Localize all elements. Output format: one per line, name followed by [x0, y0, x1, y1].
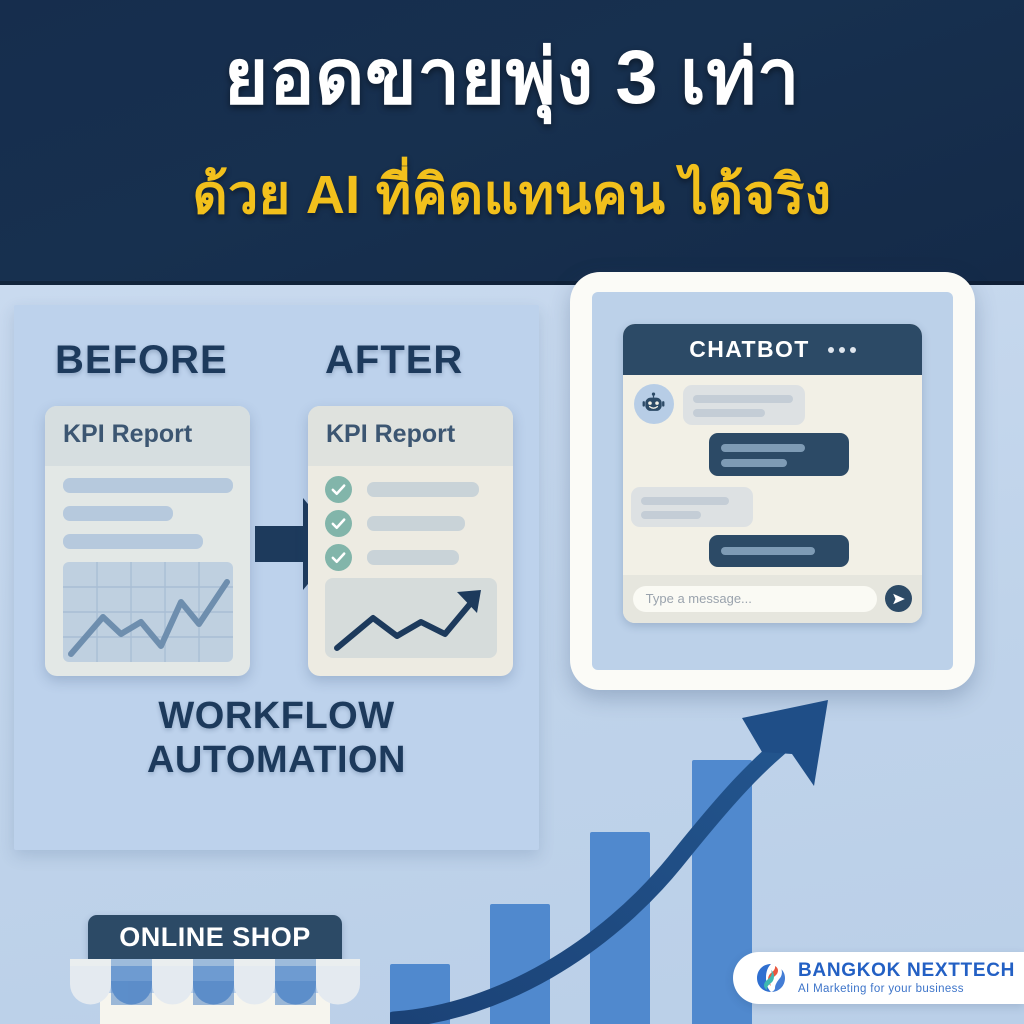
chatbot-window: CHATBOT [623, 324, 923, 623]
page-title: ยอดขายพุ่ง 3 เท่า [0, 30, 1024, 125]
check-glyph [330, 515, 347, 532]
bot-avatar [634, 384, 674, 424]
brand-tagline: AI Marketing for your business [798, 983, 1015, 995]
caption-line-2: AUTOMATION [147, 739, 406, 781]
after-label: AFTER [325, 338, 463, 383]
check-icon [325, 510, 352, 537]
tablet-screen: CHATBOT [592, 292, 953, 670]
robot-icon [641, 391, 666, 416]
placeholder-text-line [367, 550, 459, 565]
tablet-device: CHATBOT [570, 272, 975, 690]
user-message-bubble [709, 433, 849, 476]
send-button[interactable] [885, 585, 912, 612]
shop-sign-label: ONLINE SHOP [119, 922, 311, 953]
growth-line-icon [325, 578, 497, 658]
bot-message-bubble [631, 487, 753, 527]
message-input[interactable]: Type a message... [633, 586, 878, 612]
chat-message-list [623, 375, 923, 575]
brand-mark-icon [755, 962, 787, 994]
placeholder-text-line [63, 534, 203, 549]
page-subtitle: ด้วย AI ที่คิดแทนคน ได้จริง [0, 162, 1024, 230]
send-icon [892, 592, 906, 606]
more-options-icon[interactable] [828, 347, 856, 353]
shop-sign: ONLINE SHOP [88, 915, 342, 959]
before-label: BEFORE [55, 338, 228, 383]
caption-line-1: WORKFLOW [158, 695, 394, 737]
check-icon [325, 476, 352, 503]
after-document-card: KPI Report [308, 406, 513, 676]
chatbot-input-bar: Type a message... [623, 575, 923, 623]
brand-logo-badge: BANGKOK NEXTTECH AI Marketing for your b… [733, 952, 1024, 1004]
user-message-bubble [709, 535, 849, 567]
line-chart-icon [63, 562, 233, 662]
check-glyph [330, 549, 347, 566]
chatbot-title: CHATBOT [689, 336, 810, 363]
check-icon [325, 544, 352, 571]
after-document-title: KPI Report [326, 420, 455, 449]
before-document-title: KPI Report [63, 420, 192, 449]
check-glyph [330, 481, 347, 498]
infographic-canvas: ยอดขายพุ่ง 3 เท่า ด้วย AI ที่คิดแทนคน ได… [0, 0, 1024, 1024]
online-shop-illustration: ONLINE SHOP [70, 915, 360, 1024]
placeholder-text-line [367, 516, 465, 531]
before-line-chart [63, 562, 233, 662]
before-document-card: KPI Report [45, 406, 250, 676]
awning-icon [70, 959, 360, 1005]
chatbot-header: CHATBOT [623, 324, 923, 375]
header-banner: ยอดขายพุ่ง 3 เท่า ด้วย AI ที่คิดแทนคน ได… [0, 0, 1024, 285]
placeholder-text-line [63, 506, 173, 521]
bot-message-bubble [683, 385, 805, 425]
after-growth-chart [325, 578, 497, 658]
brand-name: BANGKOK NEXTTECH [798, 961, 1015, 981]
placeholder-text-line [63, 478, 233, 493]
placeholder-text-line [367, 482, 479, 497]
brand-text: BANGKOK NEXTTECH AI Marketing for your b… [798, 961, 1015, 995]
